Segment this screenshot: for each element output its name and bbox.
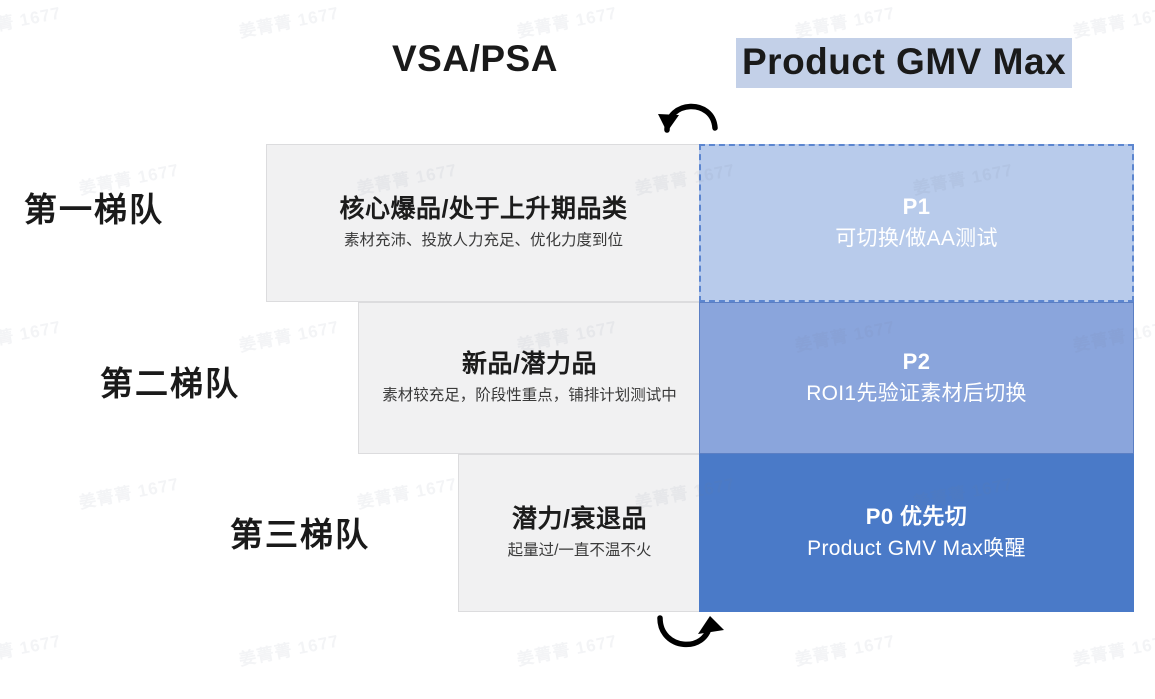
watermark-text: 姜菁菁 1677 <box>0 0 63 42</box>
curved-arrow-left-icon <box>655 88 727 139</box>
watermark-text: 姜菁菁 1677 <box>1071 627 1155 671</box>
tier-label-3: 第三梯队 <box>230 508 370 556</box>
priority-cell-p1: P1 可切换/做AA测试 <box>699 144 1134 302</box>
current-state-title-tier-1: 核心爆品/处于上升期品类 <box>340 194 628 224</box>
current-state-cell-tier-3: 潜力/衰退品 起量过/一直不温不火 <box>458 454 701 612</box>
priority-label-p1: P1 <box>903 194 931 220</box>
current-state-subtitle-tier-1: 素材充沛、投放人力充足、优化力度到位 <box>344 231 623 251</box>
priority-action-p0: Product GMV Max唤醒 <box>807 535 1026 562</box>
watermark-text: 姜菁菁 1677 <box>1071 0 1155 42</box>
tier-label-1: 第一梯队 <box>24 183 164 231</box>
watermark-text: 姜菁菁 1677 <box>515 627 619 671</box>
priority-label-p2: P2 <box>903 349 931 375</box>
curved-arrow-right-icon <box>650 614 728 663</box>
watermark-text: 姜菁菁 1677 <box>793 627 897 671</box>
priority-action-p1: 可切换/做AA测试 <box>835 225 998 252</box>
watermark-text: 姜菁菁 1677 <box>0 627 63 671</box>
current-state-title-tier-3: 潜力/衰退品 <box>512 504 647 534</box>
column-header-vsa-psa: VSA/PSA <box>392 38 558 80</box>
priority-cell-p0: P0 优先切 Product GMV Max唤醒 <box>699 454 1134 612</box>
watermark-text: 姜菁菁 1677 <box>355 470 459 514</box>
current-state-subtitle-tier-2: 素材较充足，阶段性重点，铺排计划测试中 <box>382 386 677 406</box>
watermark-text: 姜菁菁 1677 <box>237 313 341 357</box>
watermark-text: 姜菁菁 1677 <box>515 0 619 42</box>
tier-label-2: 第二梯队 <box>100 357 240 405</box>
watermark-text: 姜菁菁 1677 <box>793 0 897 42</box>
watermark-text: 姜菁菁 1677 <box>237 627 341 671</box>
slide-canvas: VSA/PSA Product GMV Max 第一梯队 第二梯队 第三梯队 核… <box>0 0 1155 699</box>
watermark-text: 姜菁菁 1677 <box>237 0 341 42</box>
watermark-text: 姜菁菁 1677 <box>77 470 181 514</box>
watermark-text: 姜菁菁 1677 <box>0 313 63 357</box>
priority-action-p2: ROI1先验证素材后切换 <box>806 380 1027 407</box>
current-state-title-tier-2: 新品/潜力品 <box>462 349 597 379</box>
priority-label-p0: P0 优先切 <box>866 504 967 530</box>
current-state-cell-tier-1: 核心爆品/处于上升期品类 素材充沛、投放人力充足、优化力度到位 <box>266 144 701 302</box>
current-state-cell-tier-2: 新品/潜力品 素材较充足，阶段性重点，铺排计划测试中 <box>358 302 701 454</box>
current-state-subtitle-tier-3: 起量过/一直不温不火 <box>508 541 652 561</box>
column-header-product-gmv-max: Product GMV Max <box>736 38 1072 88</box>
priority-cell-p2: P2 ROI1先验证素材后切换 <box>699 302 1134 454</box>
